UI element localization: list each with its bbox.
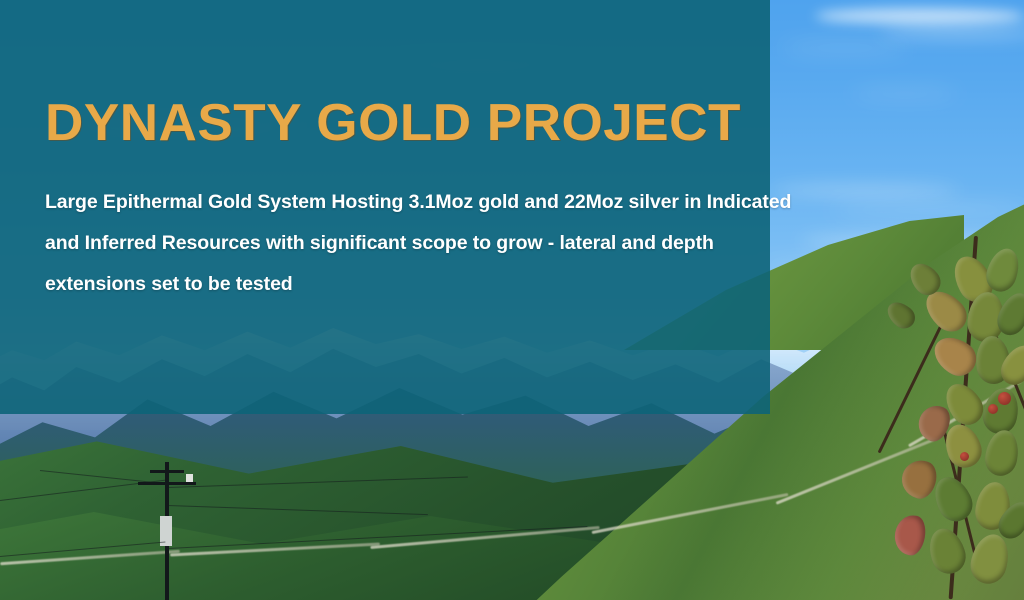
foliage-berry xyxy=(988,404,998,414)
cloud-wisp xyxy=(780,44,910,52)
cloud-wisp xyxy=(850,90,960,97)
hero-subtitle-line-2: and Inferred Resources with significant … xyxy=(45,223,735,264)
foliage-berry xyxy=(960,452,969,461)
hero-subtitle: Large Epithermal Gold System Hosting 3.1… xyxy=(45,182,735,305)
foliage-berry xyxy=(998,392,1011,405)
hero-banner: DYNASTY GOLD PROJECT Large Epithermal Go… xyxy=(0,0,1024,600)
cloud-wisp xyxy=(770,186,960,195)
utility-pole-insulator xyxy=(186,474,193,482)
hero-text-block: DYNASTY GOLD PROJECT Large Epithermal Go… xyxy=(0,0,770,414)
utility-pole-crossarm-upper xyxy=(150,470,184,473)
hero-subtitle-line-1: Large Epithermal Gold System Hosting 3.1… xyxy=(45,182,735,223)
cloud-wisp xyxy=(830,205,1024,215)
hero-subtitle-line-3: extensions set to be tested xyxy=(45,264,735,305)
page-title: DYNASTY GOLD PROJECT xyxy=(45,96,741,151)
cloud-wisp xyxy=(815,8,1024,24)
